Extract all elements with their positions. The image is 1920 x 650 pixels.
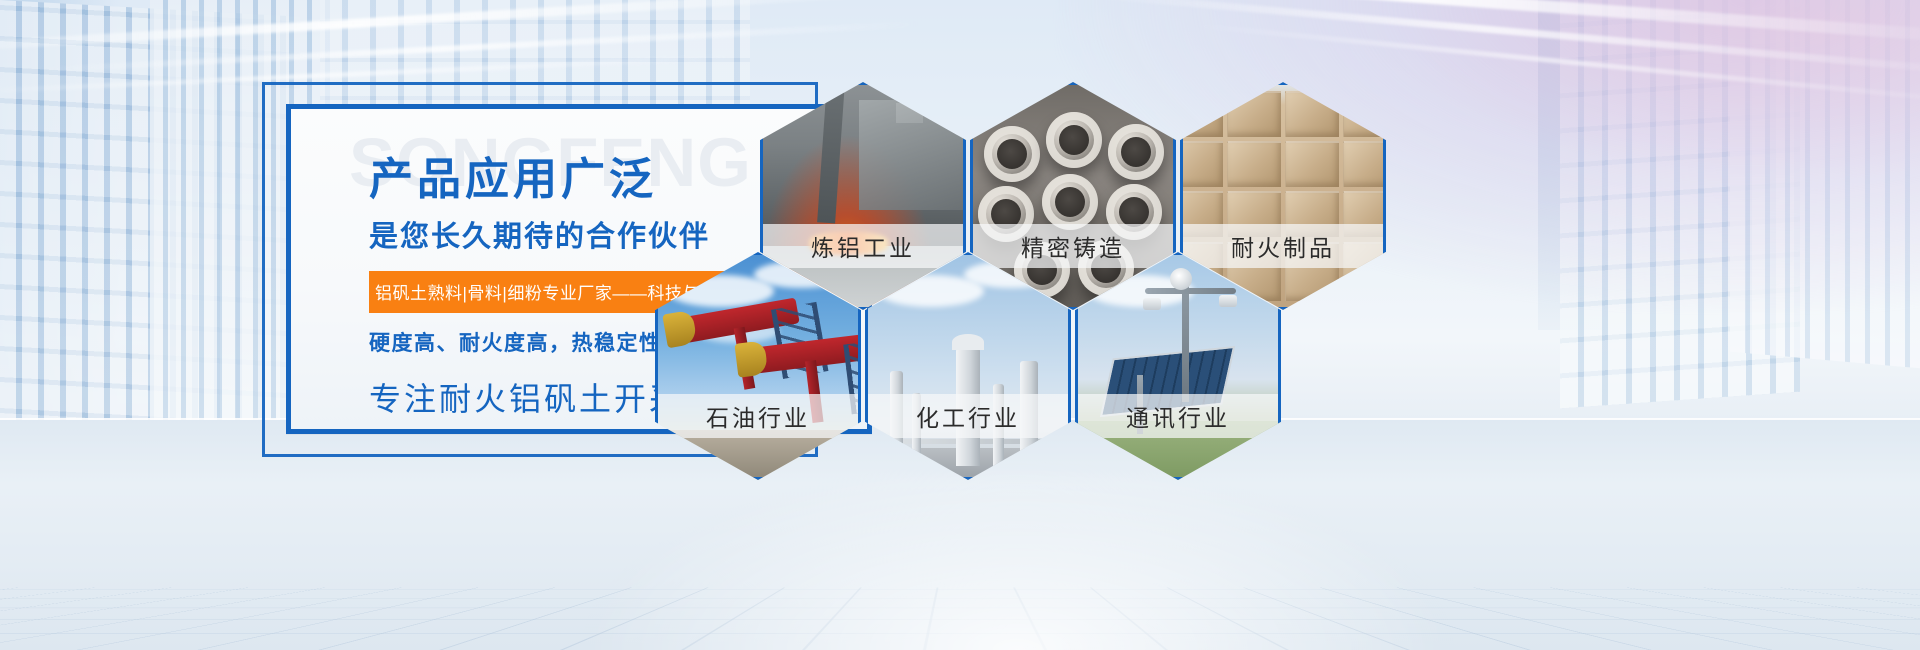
antenna-mast <box>1182 284 1189 403</box>
casting-cylinder <box>984 126 1040 182</box>
hex-label-telecom: 通讯行业 <box>1075 394 1281 438</box>
satellite-dish-icon <box>1170 268 1192 290</box>
banner-stage: SONGFENG 产品应用广泛 是您长久期待的合作伙伴 铝矾土熟料|骨料|细粉专… <box>0 0 1920 650</box>
hex-label-refractory: 耐火制品 <box>1180 224 1386 268</box>
casting-cylinder <box>1046 112 1102 168</box>
hex-label-casting: 精密铸造 <box>970 224 1176 268</box>
industry-hexagon-grid: 炼铝工业 精密铸造 <box>640 60 1360 530</box>
brick-row <box>1180 141 1386 187</box>
headline: 产品应用广泛 <box>369 143 657 207</box>
hex-label-chemical: 化工行业 <box>865 394 1071 438</box>
hex-label-oil: 石油行业 <box>655 394 861 438</box>
camera-unit <box>1219 295 1237 307</box>
hex-label-smelting: 炼铝工业 <box>760 224 966 268</box>
casting-cylinder <box>1042 174 1098 230</box>
furnace-window <box>896 103 923 124</box>
brick-row <box>1180 91 1386 137</box>
casting-cylinder <box>1108 124 1164 180</box>
antenna-cross-arm <box>1145 288 1236 294</box>
camera-unit <box>1143 298 1161 310</box>
